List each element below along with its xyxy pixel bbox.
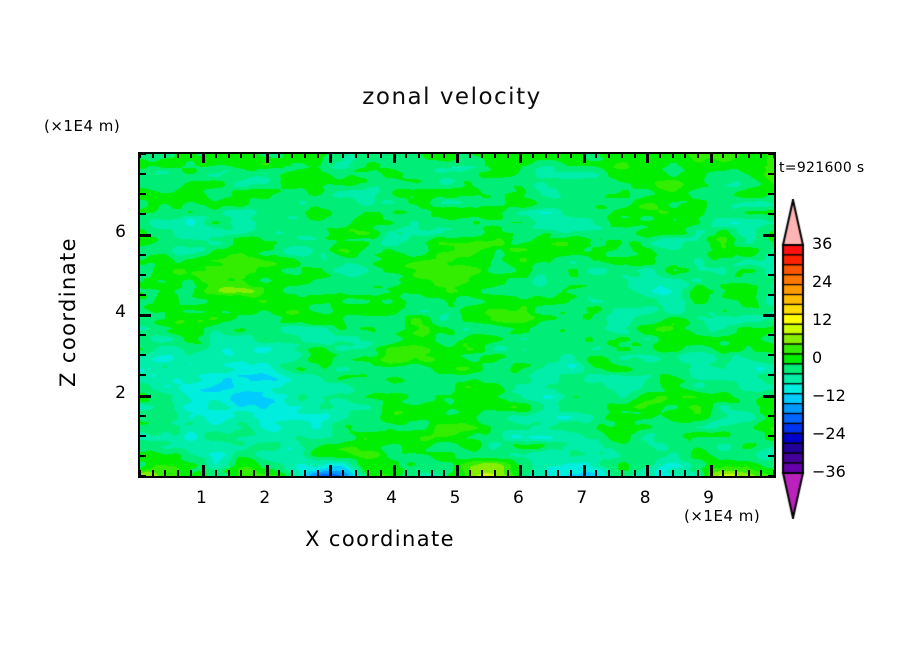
y-minor-tick-right (768, 354, 774, 356)
x-major-tick-top (393, 152, 396, 163)
x-minor-tick (443, 470, 445, 476)
x-minor-tick-top (735, 152, 737, 158)
x-minor-tick (317, 470, 319, 476)
x-minor-tick-top (190, 152, 192, 158)
x-tick-label: 3 (308, 488, 348, 508)
colorbar-tick-label: 24 (812, 272, 832, 291)
x-minor-tick (621, 470, 623, 476)
x-minor-tick (405, 470, 407, 476)
colorbar-tick-label: 36 (812, 234, 832, 253)
y-axis-title: Z coordinate (56, 192, 80, 432)
x-minor-tick (228, 470, 230, 476)
y-minor-tick-right (768, 213, 774, 215)
y-minor-tick-right (768, 475, 774, 477)
x-minor-tick (697, 470, 699, 476)
x-tick-label: 6 (498, 488, 538, 508)
x-major-tick-top (519, 152, 522, 163)
x-major-tick-top (583, 152, 586, 163)
colorbar (781, 199, 805, 519)
colorbar-tick-label: −36 (812, 462, 846, 481)
y-major-tick-right (763, 234, 774, 237)
x-tick-label: 2 (245, 488, 285, 508)
page-title: zonal velocity (0, 84, 904, 110)
x-minor-tick-top (760, 152, 762, 158)
x-minor-tick (380, 470, 382, 476)
x-minor-tick-top (608, 152, 610, 158)
x-major-tick-top (456, 152, 459, 163)
x-minor-tick (278, 470, 280, 476)
y-tick-label: 6 (86, 222, 126, 242)
x-minor-tick (304, 470, 306, 476)
y-minor-tick-right (768, 455, 774, 457)
y-minor-tick-right (768, 173, 774, 175)
y-minor-tick-right (768, 153, 774, 155)
x-minor-tick (595, 470, 597, 476)
x-minor-tick (152, 470, 154, 476)
x-minor-tick (557, 470, 559, 476)
x-minor-tick-top (342, 152, 344, 158)
y-tick-label: 2 (86, 383, 126, 403)
x-minor-tick-top (164, 152, 166, 158)
x-minor-tick (570, 470, 572, 476)
x-minor-tick (291, 470, 293, 476)
y-minor-tick (140, 354, 146, 356)
x-major-tick-top (710, 152, 713, 163)
x-minor-tick (177, 470, 179, 476)
y-major-tick (140, 314, 151, 317)
x-minor-tick-top (469, 152, 471, 158)
x-minor-tick-top (443, 152, 445, 158)
x-minor-tick (418, 470, 420, 476)
x-minor-tick-top (722, 152, 724, 158)
x-tick-label: 9 (689, 488, 729, 508)
y-minor-tick (140, 374, 146, 376)
x-minor-tick-top (672, 152, 674, 158)
x-minor-tick-top (595, 152, 597, 158)
y-minor-tick (140, 435, 146, 437)
x-minor-tick-top (431, 152, 433, 158)
x-minor-tick (481, 470, 483, 476)
x-major-tick (583, 465, 586, 476)
y-minor-tick (140, 173, 146, 175)
x-minor-tick-top (494, 152, 496, 158)
x-minor-tick-top (545, 152, 547, 158)
x-minor-tick (532, 470, 534, 476)
x-minor-tick-top (481, 152, 483, 158)
y-minor-tick (140, 193, 146, 195)
x-tick-label: 1 (181, 488, 221, 508)
x-minor-tick-top (177, 152, 179, 158)
x-minor-tick (355, 470, 357, 476)
x-major-tick (393, 465, 396, 476)
x-minor-tick (342, 470, 344, 476)
y-minor-tick (140, 254, 146, 256)
x-minor-tick-top (621, 152, 623, 158)
x-minor-tick-top (684, 152, 686, 158)
x-major-tick (329, 465, 332, 476)
y-minor-tick (140, 153, 146, 155)
x-minor-tick (507, 470, 509, 476)
colorbar-tick-label: 12 (812, 310, 832, 329)
x-minor-tick (469, 470, 471, 476)
y-minor-tick (140, 213, 146, 215)
y-major-tick (140, 395, 151, 398)
colorbar-gradient (781, 199, 805, 519)
x-minor-tick (164, 470, 166, 476)
x-minor-tick-top (418, 152, 420, 158)
x-minor-tick (215, 470, 217, 476)
x-tick-label: 7 (562, 488, 602, 508)
x-minor-tick (190, 470, 192, 476)
x-minor-tick-top (253, 152, 255, 158)
x-minor-tick (722, 470, 724, 476)
x-minor-tick (240, 470, 242, 476)
x-minor-tick-top (532, 152, 534, 158)
y-minor-tick-right (768, 334, 774, 336)
x-tick-label: 4 (372, 488, 412, 508)
x-tick-label: 8 (625, 488, 665, 508)
y-major-tick (140, 234, 151, 237)
x-minor-tick (748, 470, 750, 476)
x-minor-tick-top (278, 152, 280, 158)
x-minor-tick-top (367, 152, 369, 158)
x-minor-tick (367, 470, 369, 476)
x-minor-tick (545, 470, 547, 476)
y-minor-tick-right (768, 274, 774, 276)
y-minor-tick-right (768, 374, 774, 376)
x-minor-tick-top (291, 152, 293, 158)
y-axis-unit-label: (×1E4 m) (44, 117, 120, 135)
x-minor-tick-top (317, 152, 319, 158)
y-minor-tick-right (768, 193, 774, 195)
x-minor-tick (735, 470, 737, 476)
contour-plot-area (138, 152, 776, 478)
y-major-tick-right (763, 314, 774, 317)
x-major-tick (202, 465, 205, 476)
x-major-tick (519, 465, 522, 476)
x-axis-title: X coordinate (0, 527, 760, 551)
y-minor-tick-right (768, 294, 774, 296)
x-minor-tick (672, 470, 674, 476)
contour-field (140, 154, 774, 476)
x-minor-tick-top (355, 152, 357, 158)
colorbar-tick-label: −24 (812, 424, 846, 443)
x-minor-tick-top (152, 152, 154, 158)
x-major-tick-top (266, 152, 269, 163)
x-tick-label: 5 (435, 488, 475, 508)
x-major-tick (710, 465, 713, 476)
x-minor-tick (253, 470, 255, 476)
x-minor-tick-top (557, 152, 559, 158)
x-major-tick (266, 465, 269, 476)
colorbar-tick-label: −12 (812, 386, 846, 405)
x-minor-tick (760, 470, 762, 476)
x-minor-tick-top (405, 152, 407, 158)
x-minor-tick (634, 470, 636, 476)
y-minor-tick-right (768, 254, 774, 256)
x-minor-tick (608, 470, 610, 476)
y-minor-tick-right (768, 415, 774, 417)
x-minor-tick-top (659, 152, 661, 158)
y-major-tick-right (763, 395, 774, 398)
x-minor-tick-top (507, 152, 509, 158)
y-minor-tick (140, 274, 146, 276)
x-minor-tick-top (228, 152, 230, 158)
x-minor-tick (659, 470, 661, 476)
y-minor-tick-right (768, 435, 774, 437)
x-minor-tick-top (380, 152, 382, 158)
y-minor-tick (140, 475, 146, 477)
x-major-tick-top (202, 152, 205, 163)
timestamp-annotation: t=921600 s (779, 160, 864, 176)
x-minor-tick-top (304, 152, 306, 158)
y-minor-tick (140, 334, 146, 336)
y-minor-tick (140, 294, 146, 296)
colorbar-tick-label: 0 (812, 348, 822, 367)
x-major-tick (646, 465, 649, 476)
x-minor-tick-top (240, 152, 242, 158)
y-tick-label: 4 (86, 302, 126, 322)
x-major-tick-top (329, 152, 332, 163)
x-minor-tick (494, 470, 496, 476)
y-minor-tick (140, 455, 146, 457)
x-minor-tick-top (634, 152, 636, 158)
x-minor-tick-top (697, 152, 699, 158)
x-minor-tick (684, 470, 686, 476)
x-axis-unit-label: (×1E4 m) (684, 507, 760, 525)
x-major-tick (456, 465, 459, 476)
y-minor-tick (140, 415, 146, 417)
x-minor-tick-top (570, 152, 572, 158)
x-minor-tick-top (748, 152, 750, 158)
x-minor-tick-top (215, 152, 217, 158)
x-major-tick-top (646, 152, 649, 163)
x-minor-tick (431, 470, 433, 476)
